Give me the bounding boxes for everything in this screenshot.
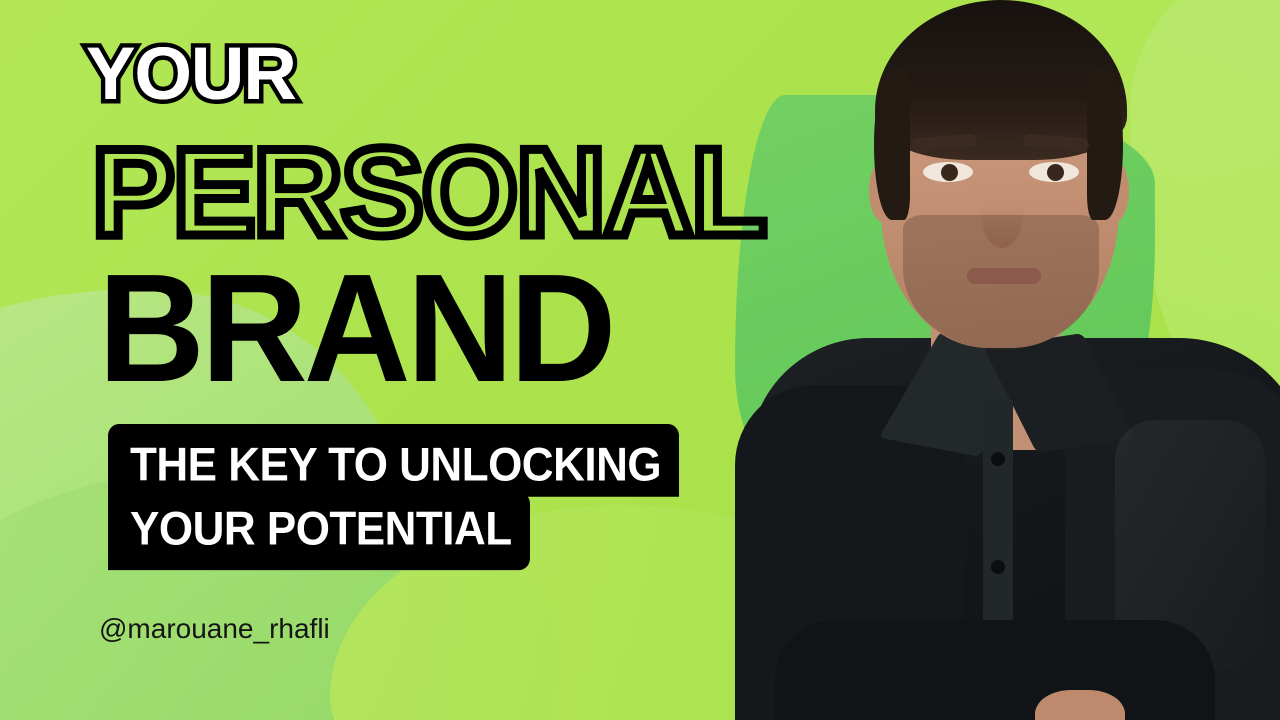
subtitle-line-2: YOUR POTENTIAL xyxy=(108,492,530,570)
social-handle: @marouane_rhafli xyxy=(99,612,330,646)
thumbnail-canvas: YOUR YOUR PERSONAL BRAND THE KEY TO UNLO… xyxy=(0,0,1280,720)
headline-kicker: YOUR xyxy=(86,37,296,111)
subtitle-line-1: THE KEY TO UNLOCKING xyxy=(108,424,679,497)
headline-title-solid: BRAND xyxy=(98,252,612,406)
subtitle-ribbon: THE KEY TO UNLOCKING YOUR POTENTIAL xyxy=(108,424,679,565)
headline-title-outline: PERSONAL xyxy=(92,131,765,255)
headline-group: YOUR YOUR PERSONAL BRAND THE KEY TO UNLO… xyxy=(0,0,1280,720)
